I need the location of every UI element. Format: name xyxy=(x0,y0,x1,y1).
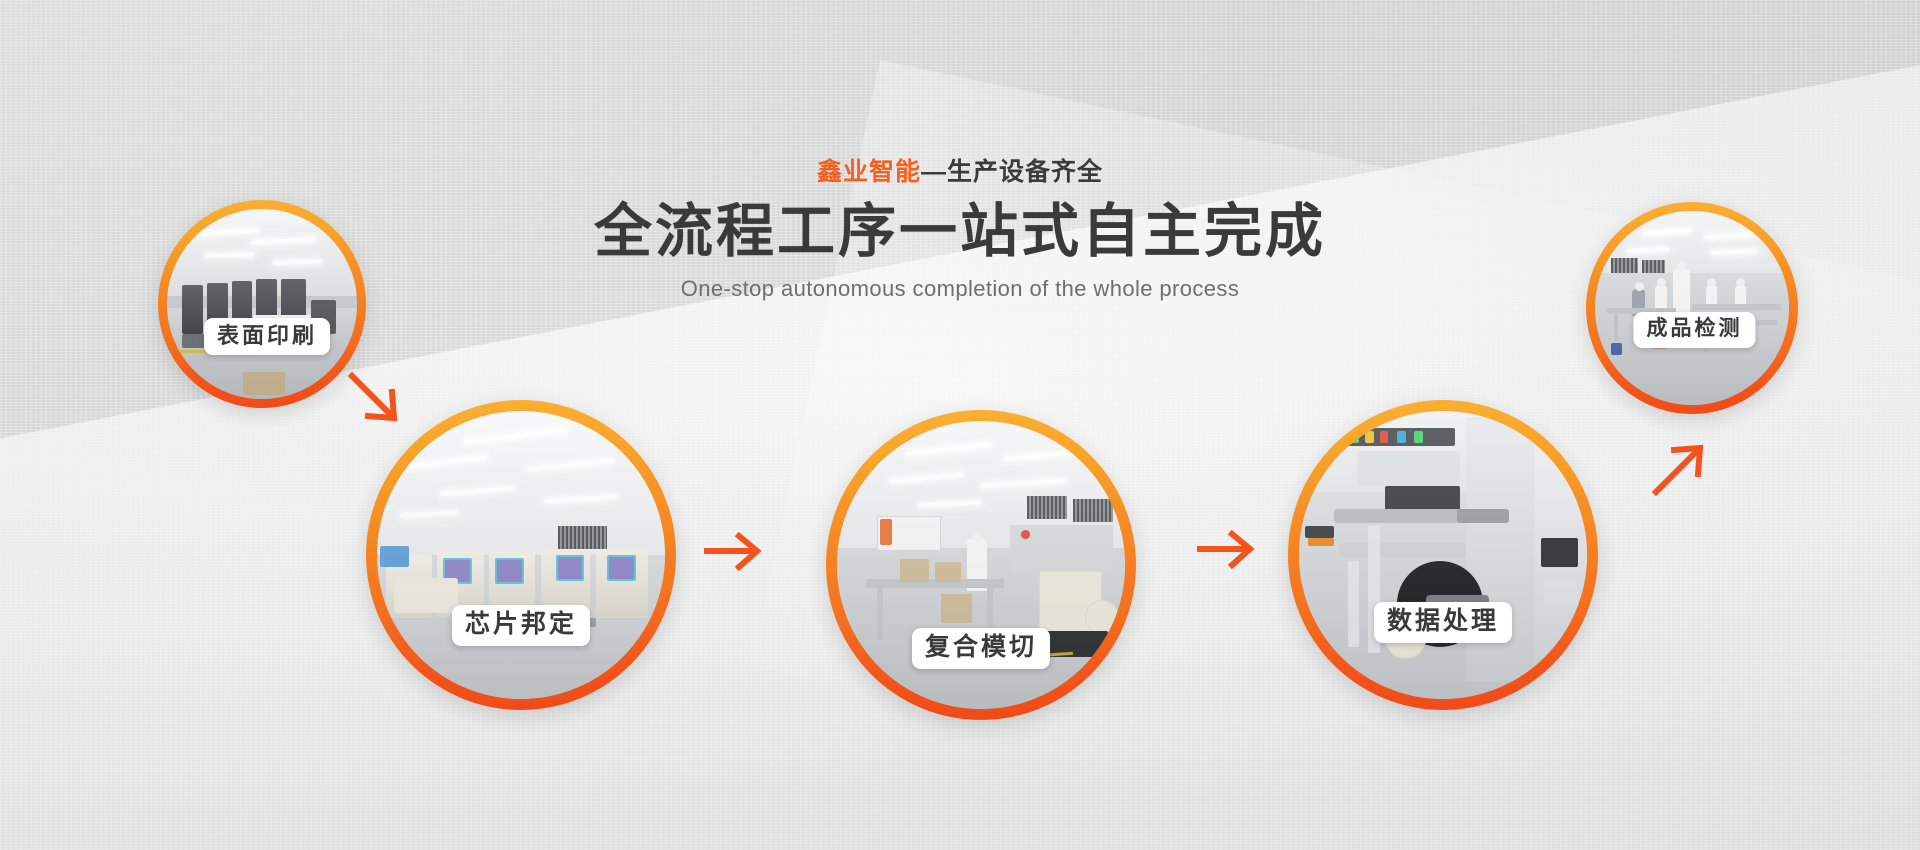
process-step-2[interactable]: 芯片邦定 xyxy=(366,400,676,710)
banner-stage: 鑫业智能—生产设备齐全 全流程工序一站式自主完成 One-stop autono… xyxy=(0,0,1920,850)
connector-2-arrow-right-icon xyxy=(705,530,767,572)
connector-3-arrow-right-icon xyxy=(1198,528,1260,570)
headline-block: 鑫业智能—生产设备齐全 全流程工序一站式自主完成 One-stop autono… xyxy=(0,160,1920,300)
connector-1-arrow-down-right-icon xyxy=(348,372,408,432)
process-step-4[interactable]: 数据处理 xyxy=(1288,400,1598,710)
brand-name: 鑫业智能 xyxy=(817,158,921,186)
eyebrow-line: 鑫业智能—生产设备齐全 xyxy=(0,160,1920,185)
eyebrow-suffix: —生产设备齐全 xyxy=(921,158,1103,186)
step-label-1: 表面印刷 xyxy=(204,318,330,355)
step-photo-2 xyxy=(377,411,665,699)
step-label-4: 数据处理 xyxy=(1374,602,1512,643)
step-label-3: 复合模切 xyxy=(912,628,1050,669)
page-title: 全流程工序一站式自主完成 xyxy=(0,201,1920,264)
page-subtitle: One-stop autonomous completion of the wh… xyxy=(0,278,1920,300)
process-step-3[interactable]: 复合模切 xyxy=(826,410,1136,720)
step-photo-4 xyxy=(1299,411,1587,699)
step-label-5: 成品检测 xyxy=(1633,312,1755,348)
connector-4-arrow-up-right-icon xyxy=(1652,440,1712,500)
step-label-2: 芯片邦定 xyxy=(452,605,590,646)
